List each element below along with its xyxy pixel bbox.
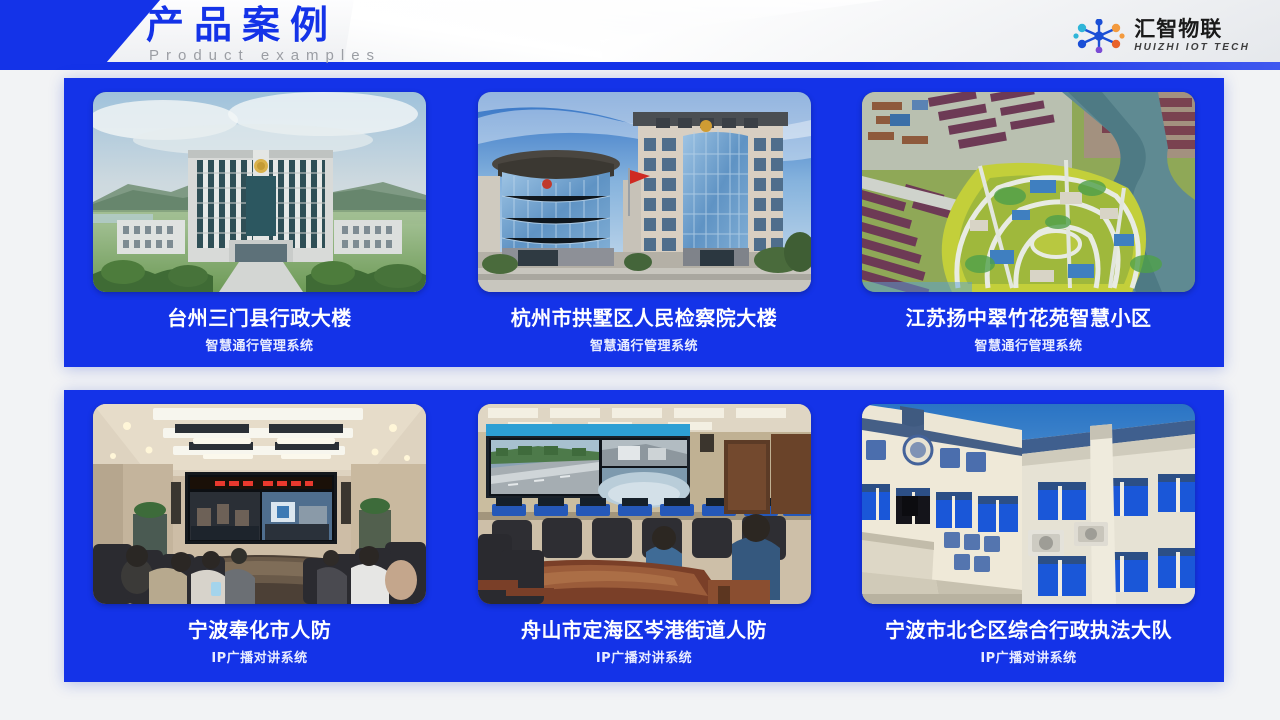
case-card[interactable]: 台州三门县行政大楼 智慧通行管理系统 [93, 92, 426, 367]
law-enforcement-building-photo[interactable] [862, 404, 1195, 604]
case-card[interactable]: 杭州市拱墅区人民检察院大楼 智慧通行管理系统 [478, 92, 811, 367]
brand-logo: 汇智物联 HUIZHI IOT TECH [1072, 14, 1250, 58]
page-header: 产品案例 Product examples [0, 0, 1280, 70]
case-card[interactable]: 宁波奉化市人防 IP广播对讲系统 [93, 404, 426, 682]
header-blue-corner-shape [0, 0, 160, 70]
procuratorate-building-photo[interactable] [478, 92, 811, 292]
case-card-subtitle: 智慧通行管理系统 [974, 339, 1082, 355]
case-panel-row-1: 台州三门县行政大楼 智慧通行管理系统 [64, 78, 1224, 367]
huizhi-molecule-logo-icon [1072, 19, 1126, 53]
page-title-group: 产品案例 Product examples [146, 2, 381, 66]
case-card-title: 江苏扬中翠竹花苑智慧小区 [906, 306, 1152, 330]
conference-room-led-screen-photo[interactable] [93, 404, 426, 604]
page-subtitle: Product examples [149, 46, 381, 66]
case-card-title: 台州三门县行政大楼 [167, 306, 352, 330]
case-card-subtitle: IP广播对讲系统 [596, 651, 692, 667]
government-building-photo[interactable] [93, 92, 426, 292]
aerial-residential-community-photo[interactable] [862, 92, 1195, 292]
case-card-title: 杭州市拱墅区人民检察院大楼 [511, 306, 778, 330]
case-card-title: 舟山市定海区岑港街道人防 [521, 618, 767, 642]
case-card[interactable]: 宁波市北仑区综合行政执法大队 IP广播对讲系统 [862, 404, 1195, 682]
header-blue-underline-gradient [860, 62, 1280, 70]
case-card-title: 宁波奉化市人防 [188, 618, 332, 642]
case-card[interactable]: 舟山市定海区岑港街道人防 IP广播对讲系统 [478, 404, 811, 682]
brand-logo-text: 汇智物联 HUIZHI IOT TECH [1134, 18, 1250, 54]
case-card-subtitle: 智慧通行管理系统 [590, 339, 698, 355]
case-card-subtitle: 智慧通行管理系统 [205, 339, 313, 355]
case-panel-row-2: 宁波奉化市人防 IP广播对讲系统 [64, 390, 1224, 682]
page-title: 产品案例 [146, 2, 381, 48]
brand-name-cn: 汇智物联 [1134, 18, 1250, 41]
control-room-video-wall-photo[interactable] [478, 404, 811, 604]
brand-name-en: HUIZHI IOT TECH [1134, 41, 1250, 54]
case-card-subtitle: IP广播对讲系统 [980, 651, 1076, 667]
case-card-subtitle: IP广播对讲系统 [211, 651, 307, 667]
case-card[interactable]: 江苏扬中翠竹花苑智慧小区 智慧通行管理系统 [862, 92, 1195, 367]
case-card-title: 宁波市北仑区综合行政执法大队 [885, 618, 1172, 642]
